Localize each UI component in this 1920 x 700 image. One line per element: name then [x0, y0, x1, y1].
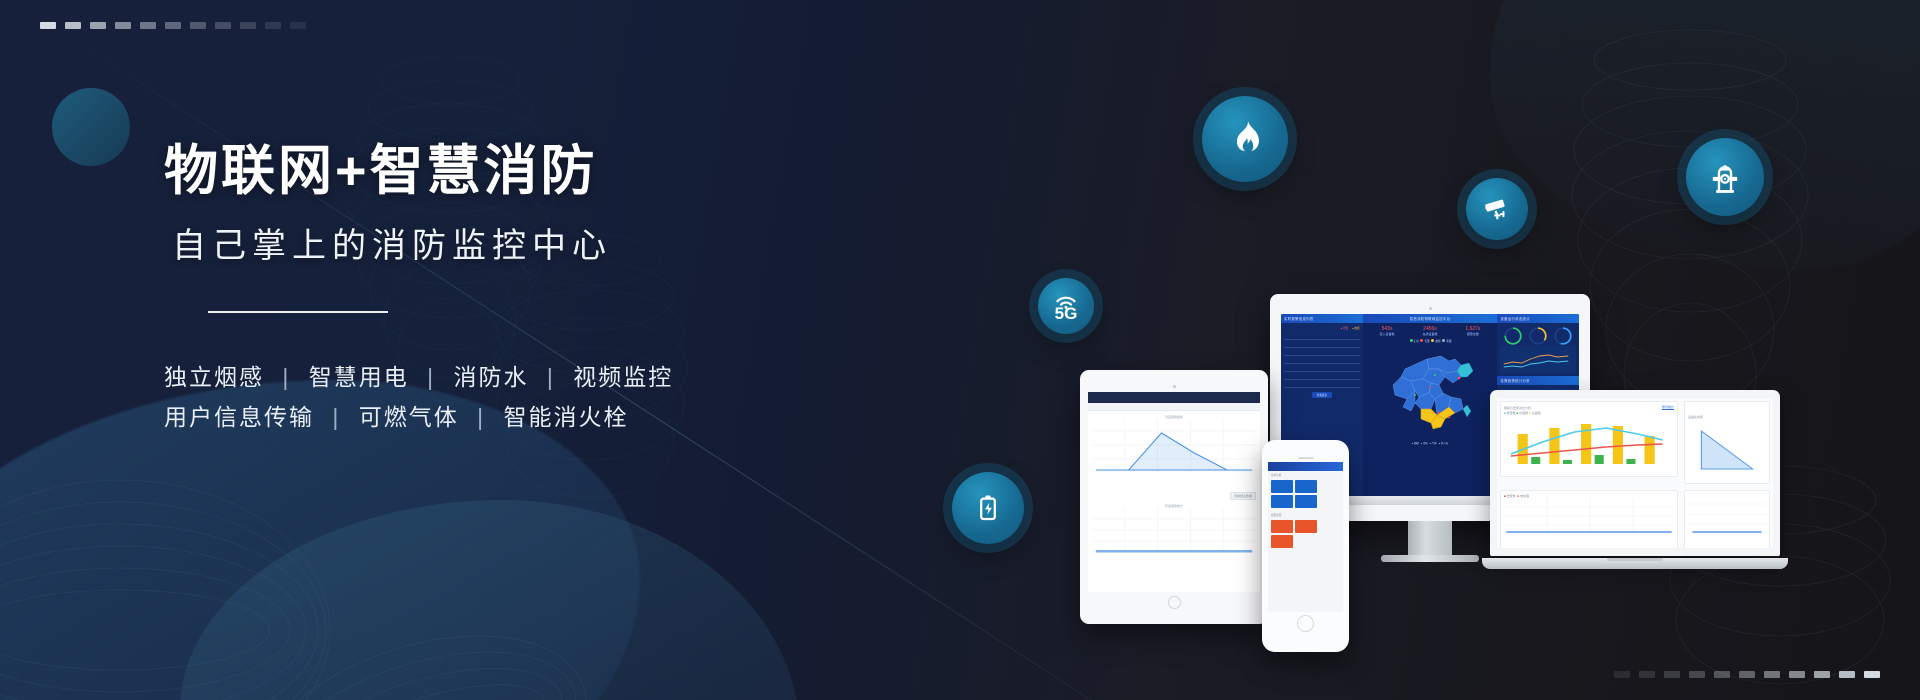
- map-legend: 正常 告警 故障 离线: [1366, 339, 1495, 343]
- feature-list: 独立烟感 | 智慧用电 | 消防水 | 视频监控 用户信息传输 | 可燃气体 |…: [164, 357, 804, 438]
- laptop-device: 能耗与告警对比分析 按月统计 ■ 告警数 ■ 处理数 ■ 设备数: [1490, 390, 1780, 569]
- tab-month[interactable]: 按月统计: [1662, 405, 1674, 410]
- feature-item: 可燃气体: [359, 404, 459, 430]
- gauge-chart: [1503, 326, 1523, 346]
- feature-item: 视频监控: [573, 364, 673, 390]
- tablet-home-button[interactable]: [1168, 596, 1181, 609]
- 5g-label: 5G: [1055, 304, 1078, 323]
- phone-home-button[interactable]: [1297, 615, 1314, 632]
- panel-title: 设备运行状态统计: [1497, 314, 1579, 323]
- map-panel: 智慧消防物联网监控平台 543s 接入设备数 2456s 在线设备数 1,627…: [1363, 314, 1498, 496]
- feature-separator: |: [477, 404, 485, 430]
- panel-title: 实时报警信息列表: [1281, 314, 1363, 323]
- gauge-chart: [1553, 326, 1573, 346]
- app-tile[interactable]: [1271, 480, 1293, 493]
- tablet-device: 月度报警趋势 查看更多数据: [1080, 370, 1268, 624]
- hydrant-icon: [1686, 138, 1764, 216]
- bar-line-chart-card: 能耗与告警对比分析 按月统计 ■ 告警数 ■ 处理数 ■ 设备数: [1500, 401, 1678, 477]
- app-tile[interactable]: [1295, 480, 1317, 493]
- chart-title: 设备在线率: [1688, 415, 1703, 419]
- line-chart: [1502, 348, 1574, 370]
- phone-app: 常用功能 报警处理: [1268, 462, 1343, 612]
- 5g-icon: 5G: [1038, 278, 1094, 334]
- combo-chart: [1504, 416, 1674, 468]
- feature-separator: |: [427, 364, 435, 390]
- laptop-dashboard: 能耗与告警对比分析 按月统计 ■ 告警数 ■ 处理数 ■ 设备数: [1497, 398, 1773, 548]
- app-tile[interactable]: [1271, 520, 1293, 533]
- page-title: 物联网+智慧消防: [164, 140, 804, 202]
- feature-item: 消防水: [454, 364, 529, 390]
- camera-icon: [1466, 178, 1528, 240]
- tablet-dashboard: 月度报警趋势 查看更多数据: [1088, 392, 1260, 592]
- tablet-chart-2: [1092, 508, 1256, 560]
- flame-icon: [1202, 96, 1288, 182]
- feature-item: 用户信息传输: [164, 404, 314, 430]
- divider-rule: [208, 311, 388, 313]
- table-card: ■ 告警数 ■ 未处理: [1500, 490, 1678, 548]
- device-mockup-cluster: 实时报警信息列表 ● 告警 ● 故障 查看更多: [1120, 280, 1780, 590]
- dashboard-title: 智慧消防物联网监控平台: [1363, 314, 1498, 323]
- phone-device: 常用功能 报警处理: [1262, 440, 1349, 652]
- stat-label: 接入设备数: [1380, 332, 1395, 336]
- feature-separator: |: [282, 364, 290, 390]
- feature-row: 独立烟感 | 智慧用电 | 消防水 | 视频监控: [164, 357, 804, 397]
- app-tile[interactable]: [1271, 495, 1293, 508]
- app-tile[interactable]: [1271, 535, 1293, 548]
- feature-separator: |: [547, 364, 555, 390]
- gauge-chart: [1528, 326, 1548, 346]
- monitor-neck: [1408, 521, 1452, 555]
- feature-item: 智能消火栓: [504, 404, 629, 430]
- tablet-app-header: [1088, 392, 1260, 403]
- laptop-base: [1482, 558, 1788, 569]
- battery-icon: [952, 472, 1024, 544]
- orange-tile-group: [1268, 517, 1343, 551]
- area-chart: [1688, 423, 1766, 475]
- stat-label: 报警总数: [1465, 332, 1480, 336]
- guilloche-pattern-bottom-left: [0, 440, 640, 700]
- chart-title: 能耗与告警对比分析: [1504, 406, 1531, 410]
- hero-copy: 物联网+智慧消防 自己掌上的消防监控中心 独立烟感 | 智慧用电 | 消防水 |…: [164, 140, 804, 438]
- bottom-right-dash-row: [1614, 671, 1880, 678]
- phone-app-header: [1268, 462, 1343, 471]
- china-map: [1375, 347, 1485, 439]
- blue-tile-group: [1268, 477, 1343, 511]
- hero-banner: 物联网+智慧消防 自己掌上的消防监控中心 独立烟感 | 智慧用电 | 消防水 |…: [0, 0, 1920, 700]
- grid-lines: [1504, 498, 1674, 534]
- small-chart-card: [1684, 490, 1770, 548]
- more-button[interactable]: 查看更多数据: [1230, 492, 1256, 500]
- bottom-left-wave-2: [180, 500, 800, 700]
- feature-item: 智慧用电: [309, 364, 409, 390]
- tablet-line-chart: [1092, 419, 1256, 477]
- app-tile[interactable]: [1295, 495, 1317, 508]
- feature-separator: |: [332, 404, 340, 430]
- top-left-dash-row: [40, 22, 315, 29]
- panel-title: 告警趋势统计分析: [1497, 376, 1579, 385]
- chart-legend: ■ 告警数 ■ 处理数 ■ 设备数: [1504, 411, 1674, 415]
- grid-lines: [1688, 494, 1766, 536]
- line-chart-card: [1500, 346, 1576, 373]
- app-tile[interactable]: [1295, 520, 1317, 533]
- feature-item: 独立烟感: [164, 364, 264, 390]
- accent-circle: [52, 88, 130, 166]
- feature-row: 用户信息传输 | 可燃气体 | 智能消火栓: [164, 397, 804, 437]
- top-right-blob: [1490, 0, 1920, 270]
- decline-chart-card: 设备在线率: [1684, 401, 1770, 484]
- page-subtitle: 自己掌上的消防监控中心: [172, 218, 804, 267]
- stat-label: 在线设备数: [1422, 332, 1437, 336]
- monitor-base: [1381, 555, 1479, 562]
